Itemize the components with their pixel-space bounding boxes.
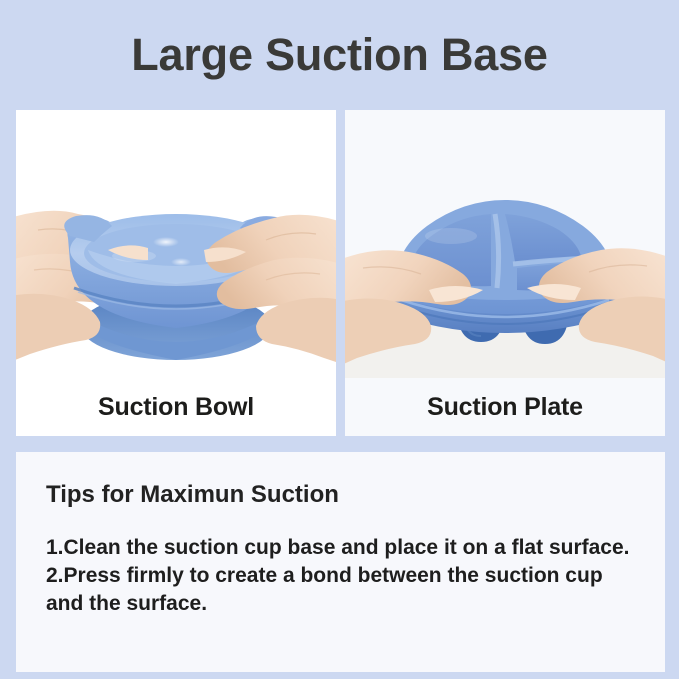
product-feature-card: Large Suction Base	[0, 0, 679, 679]
suction-bowl-photo	[16, 110, 336, 378]
tips-heading: Tips for Maximun Suction	[46, 482, 637, 508]
panel-suction-bowl: Suction Bowl	[16, 110, 336, 436]
tips-box: Tips for Maximun Suction 1.Clean the suc…	[16, 452, 665, 672]
page-title: Large Suction Base	[131, 32, 548, 77]
tip-item-1: 1.Clean the suction cup base and place i…	[46, 534, 637, 562]
product-panels: Suction Bowl	[16, 110, 665, 436]
title-bar: Large Suction Base	[0, 0, 679, 108]
tips-list: 1.Clean the suction cup base and place i…	[46, 534, 637, 618]
tip-item-2: 2.Press firmly to create a bond between …	[46, 562, 637, 618]
caption-suction-plate: Suction Plate	[345, 378, 665, 436]
panel-suction-plate: Suction Plate	[345, 110, 665, 436]
suction-plate-photo	[345, 110, 665, 378]
caption-suction-bowl: Suction Bowl	[16, 378, 336, 436]
